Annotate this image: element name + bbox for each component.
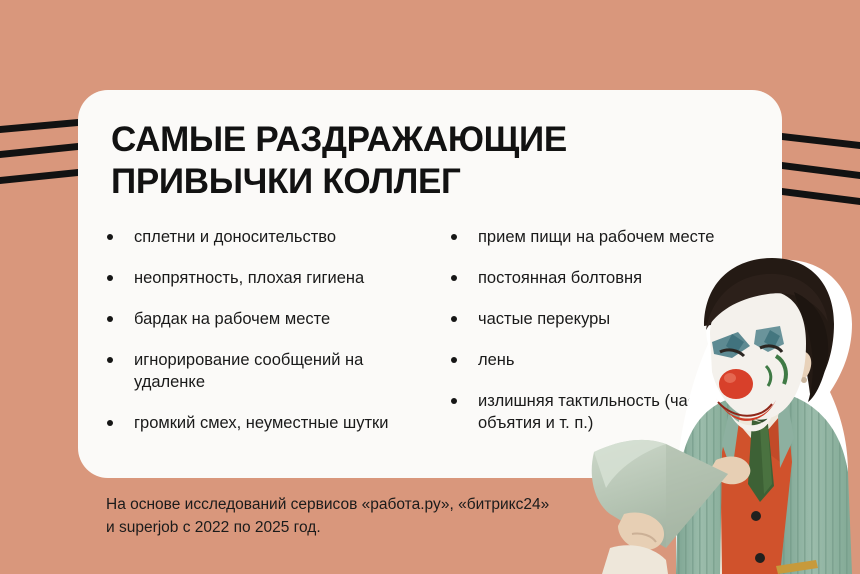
page-title: САМЫЕ РАЗДРАЖАЮЩИЕ ПРИВЫЧКИ КОЛЛЕГ xyxy=(111,119,731,203)
bullet-dot-icon xyxy=(451,275,457,281)
list-item: излишняя тактильность (частые объятия и … xyxy=(450,390,782,434)
habit-label: прием пищи на рабочем месте xyxy=(478,228,714,246)
habits-column-left: сплетни и доносительство неопрятность, п… xyxy=(106,226,432,434)
list-item: бардак на рабочем месте xyxy=(106,308,432,330)
poster-canvas: САМЫЕ РАЗДРАЖАЮЩИЕ ПРИВЫЧКИ КОЛЛЕГ сплет… xyxy=(0,0,860,574)
habit-label: неопрятность, плохая гигиена xyxy=(134,269,364,287)
habits-column-right: прием пищи на рабочем месте постоянная б… xyxy=(450,226,782,434)
habit-label: сплетни и доносительство xyxy=(134,228,336,246)
bullet-dot-icon xyxy=(107,234,113,240)
source-note: На основе исследований сервисов «работа.… xyxy=(106,493,666,539)
list-item: частые перекуры xyxy=(450,308,782,330)
title-line-2: ПРИВЫЧКИ КОЛЛЕГ xyxy=(111,161,731,203)
habit-label: лень xyxy=(478,351,515,369)
list-item: прием пищи на рабочем месте xyxy=(450,226,782,248)
bullet-dot-icon xyxy=(451,234,457,240)
list-item: постоянная болтовня xyxy=(450,267,782,289)
habit-label: излишняя тактильность (частые объятия и … xyxy=(478,392,725,432)
bullet-dot-icon xyxy=(107,275,113,281)
list-item: громкий смех, неуместные шутки xyxy=(106,412,432,434)
habits-list-left: сплетни и доносительство неопрятность, п… xyxy=(106,226,432,434)
source-note-line-2: и superjob с 2022 по 2025 год. xyxy=(106,516,666,539)
habit-label: постоянная болтовня xyxy=(478,269,642,287)
habit-label: игнорирование сообщений на удаленке xyxy=(134,351,363,391)
list-item: игнорирование сообщений на удаленке xyxy=(106,349,432,393)
list-item: сплетни и доносительство xyxy=(106,226,432,248)
habit-label: частые перекуры xyxy=(478,310,610,328)
shirt-cuff xyxy=(602,545,668,574)
habit-label: бардак на рабочем месте xyxy=(134,310,330,328)
list-item: лень xyxy=(450,349,782,371)
title-line-1: САМЫЕ РАЗДРАЖАЮЩИЕ xyxy=(111,119,731,161)
bullet-dot-icon xyxy=(107,420,113,426)
bullet-dot-icon xyxy=(107,357,113,363)
bullet-dot-icon xyxy=(107,316,113,322)
bullet-dot-icon xyxy=(451,316,457,322)
habits-columns: сплетни и доносительство неопрятность, п… xyxy=(106,226,782,434)
habit-label: громкий смех, неуместные шутки xyxy=(134,414,389,432)
bullet-dot-icon xyxy=(451,357,457,363)
list-item: неопрятность, плохая гигиена xyxy=(106,267,432,289)
source-note-line-1: На основе исследований сервисов «работа.… xyxy=(106,493,666,516)
pen xyxy=(776,560,818,574)
ear xyxy=(792,351,811,381)
habits-list-right: прием пищи на рабочем месте постоянная б… xyxy=(450,226,782,434)
hair-side xyxy=(794,292,828,402)
earring xyxy=(801,377,807,383)
content-card: САМЫЕ РАЗДРАЖАЮЩИЕ ПРИВЫЧКИ КОЛЛЕГ сплет… xyxy=(78,90,782,478)
bullet-dot-icon xyxy=(451,398,457,404)
